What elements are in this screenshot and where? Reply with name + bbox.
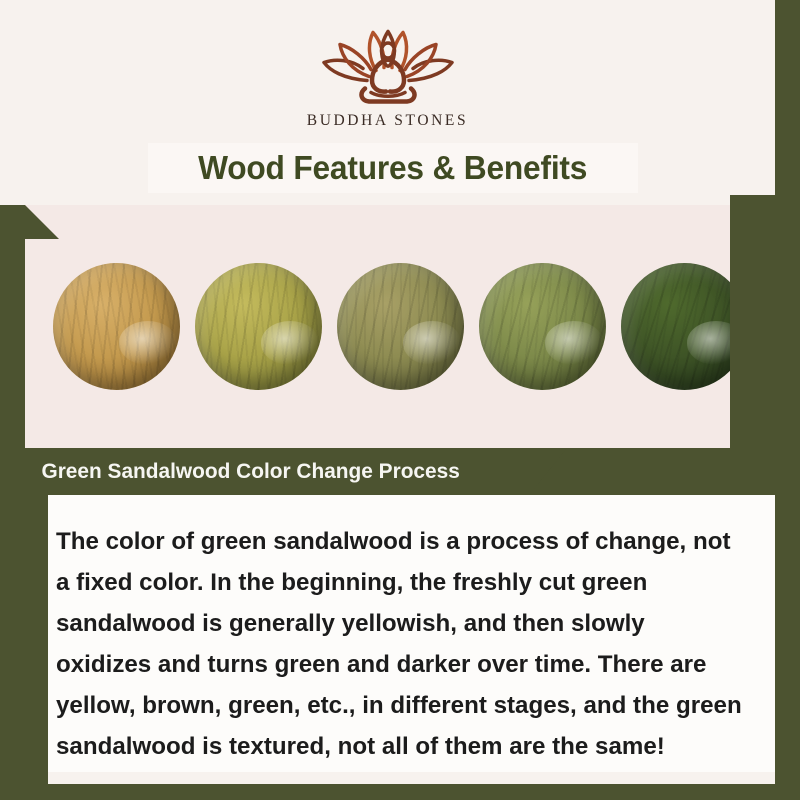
infographic-page: BUDDHA STONES Wood Features & Benefits G… bbox=[0, 0, 800, 800]
body-paragraph: The color of green sandalwood is a proce… bbox=[56, 521, 746, 767]
bead-shading bbox=[195, 263, 322, 390]
bead-stage-5 bbox=[621, 263, 748, 390]
bead-stage-3 bbox=[337, 263, 464, 390]
bead-stage-2 bbox=[195, 263, 322, 390]
bead-shading bbox=[53, 263, 180, 390]
bead-shading bbox=[621, 263, 748, 390]
bead-stage-1 bbox=[53, 263, 180, 390]
bead-shading bbox=[479, 263, 606, 390]
brand-name: BUDDHA STONES bbox=[307, 112, 468, 130]
section-banner-label: Green Sandalwood Color Change Process bbox=[41, 459, 459, 484]
bottom-strip-decoration bbox=[48, 772, 775, 784]
title-band: Wood Features & Benefits bbox=[148, 143, 638, 193]
body-panel: The color of green sandalwood is a proce… bbox=[48, 495, 775, 772]
bead-stage-4 bbox=[479, 263, 606, 390]
lotus-meditation-icon bbox=[313, 22, 463, 108]
bead-showcase bbox=[25, 205, 775, 448]
section-banner: Green Sandalwood Color Change Process bbox=[25, 448, 567, 495]
page-title: Wood Features & Benefits bbox=[198, 149, 587, 187]
bead-row bbox=[25, 205, 775, 448]
bead-shading bbox=[337, 263, 464, 390]
